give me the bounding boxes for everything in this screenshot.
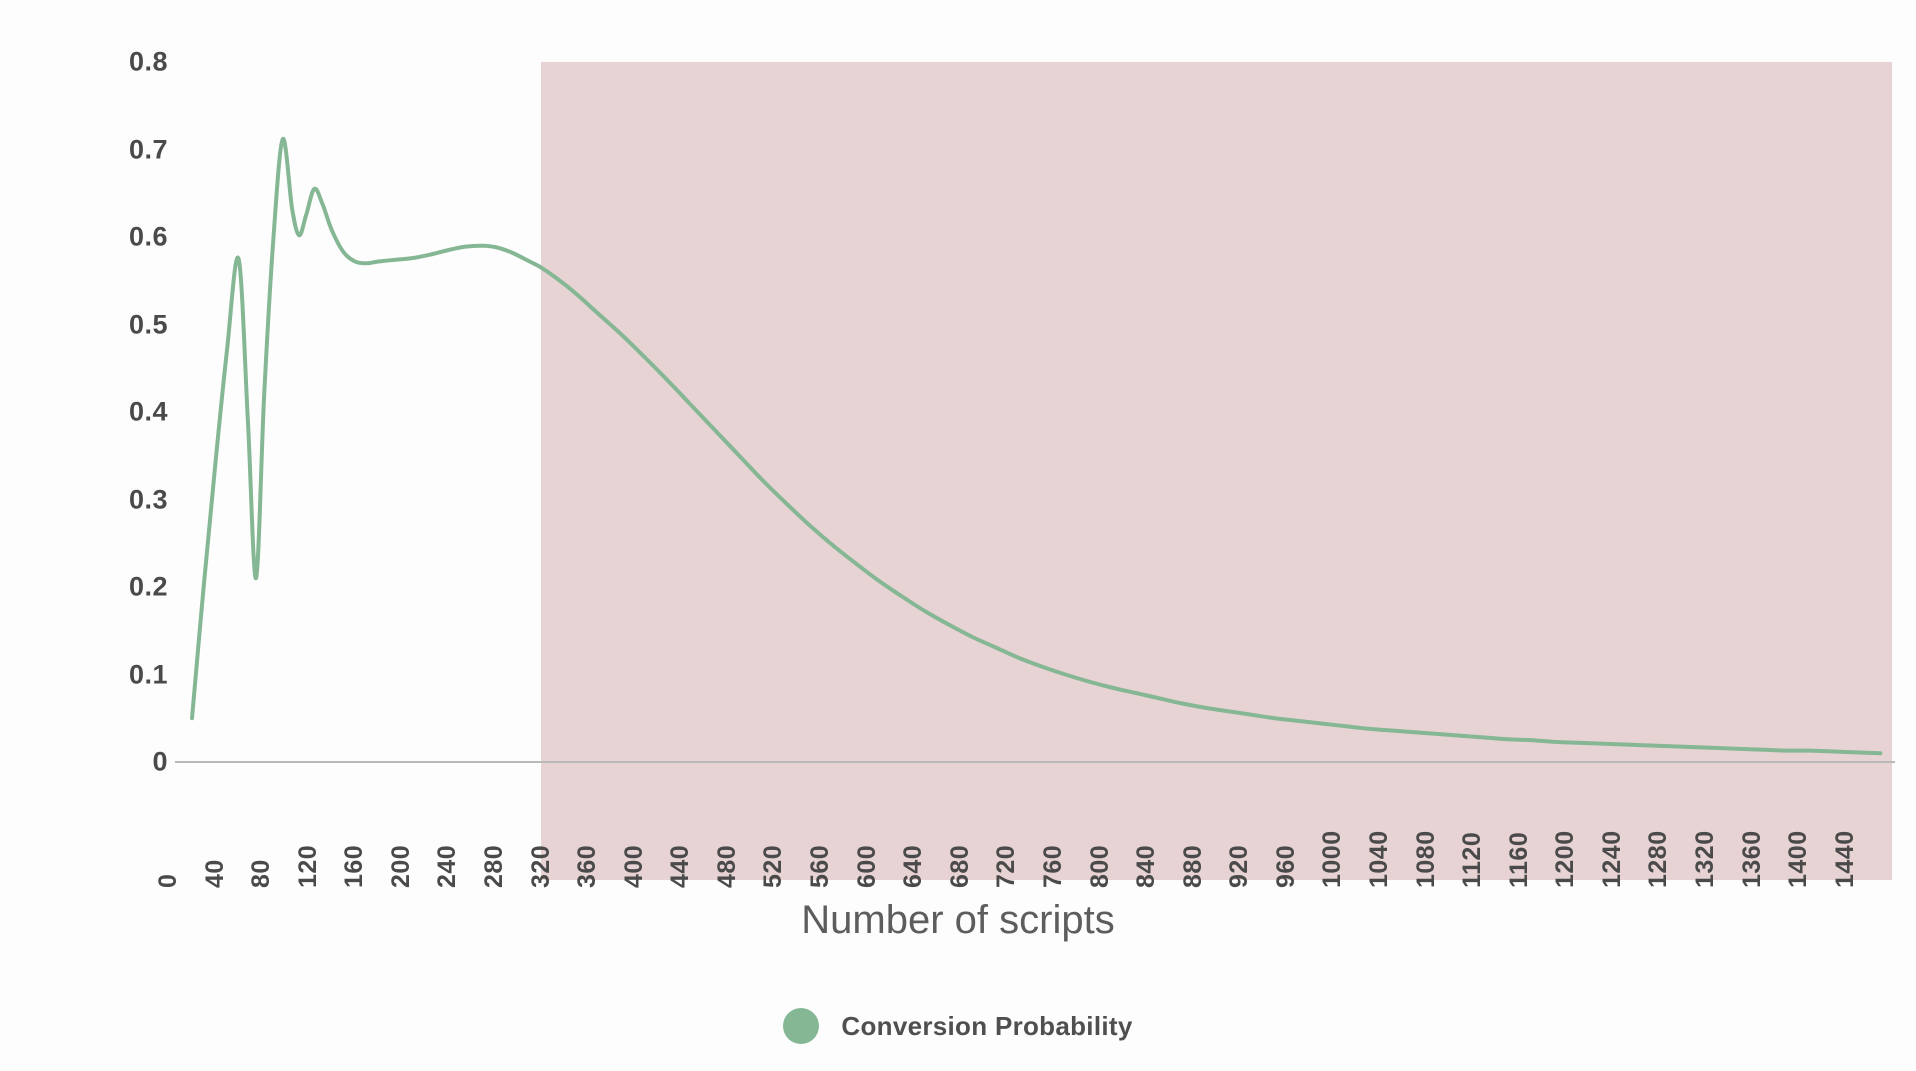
x-axis-tick-label: 1360 — [1738, 830, 1767, 888]
y-axis-tick-label: 0.1 — [48, 659, 168, 690]
y-axis-tick-label: 0.7 — [48, 134, 168, 165]
x-axis-tick-label: 1000 — [1318, 830, 1347, 888]
y-axis-tick-label: 0.6 — [48, 222, 168, 253]
chart-legend: Conversion Probability — [0, 1008, 1916, 1044]
x-axis-tick-label: 240 — [433, 845, 462, 888]
x-axis-tick-label: 1240 — [1598, 830, 1627, 888]
x-axis-tick-label: 120 — [294, 845, 323, 888]
x-axis-tick-label: 1440 — [1831, 830, 1860, 888]
x-axis-tick-label: 1080 — [1412, 830, 1441, 888]
x-axis-tick-label: 640 — [899, 845, 928, 888]
x-axis-tick-label: 160 — [340, 845, 369, 888]
x-axis-tick-label: 0 — [154, 874, 183, 888]
conversion-probability-line — [192, 139, 1880, 754]
x-axis-tick-label: 1120 — [1458, 832, 1487, 888]
x-axis-tick-label: 880 — [1179, 845, 1208, 888]
x-axis-tick-label: 1280 — [1644, 830, 1673, 888]
x-axis-tick-label: 720 — [992, 845, 1021, 888]
x-axis-tick-label: 1320 — [1691, 830, 1720, 888]
x-axis-baseline — [175, 761, 1895, 763]
x-axis-tick-label: 560 — [806, 845, 835, 888]
x-axis-tick-label: 320 — [527, 845, 556, 888]
y-axis-tick-label: 0.8 — [48, 47, 168, 78]
x-axis-tick-label: 520 — [759, 845, 788, 888]
x-axis-tick-label: 760 — [1039, 845, 1068, 888]
y-axis-tick-label: 0 — [48, 747, 168, 778]
x-axis-tick-label: 200 — [387, 845, 416, 888]
legend-item-label[interactable]: Conversion Probability — [841, 1011, 1132, 1042]
y-axis-tick-label: 0.4 — [48, 397, 168, 428]
x-axis-tick-label: 480 — [713, 845, 742, 888]
legend-marker-icon — [783, 1008, 819, 1044]
x-axis-tick-label: 280 — [480, 845, 509, 888]
x-axis-tick-label: 1160 — [1505, 832, 1534, 888]
y-axis-tick-label: 0.5 — [48, 309, 168, 340]
x-axis-tick-label: 600 — [853, 845, 882, 888]
x-axis-tick-label: 40 — [201, 859, 230, 888]
conversion-probability-line-svg — [192, 62, 1892, 762]
x-axis-tick-label: 400 — [620, 845, 649, 888]
y-axis-tick-label: 0.3 — [48, 484, 168, 515]
x-axis: 0408012016020024028032036040044048052056… — [192, 778, 1892, 888]
x-axis-tick-label: 1040 — [1365, 830, 1394, 888]
x-axis-tick-label: 440 — [666, 845, 695, 888]
chart-figure: 0.80.70.60.50.40.30.20.10 04080120160200… — [0, 0, 1916, 1071]
x-axis-tick-label: 840 — [1132, 845, 1161, 888]
x-axis-tick-label: 920 — [1225, 845, 1254, 888]
x-axis-tick-label: 960 — [1272, 845, 1301, 888]
y-axis-tick-label: 0.2 — [48, 572, 168, 603]
x-axis-title: Number of scripts — [0, 898, 1916, 943]
x-axis-tick-label: 1200 — [1551, 830, 1580, 888]
plot-area — [192, 62, 1892, 762]
x-axis-tick-label: 680 — [946, 845, 975, 888]
x-axis-tick-label: 1400 — [1784, 830, 1813, 888]
x-axis-tick-label: 800 — [1086, 845, 1115, 888]
x-axis-tick-label: 80 — [247, 859, 276, 888]
x-axis-tick-label: 360 — [573, 845, 602, 888]
